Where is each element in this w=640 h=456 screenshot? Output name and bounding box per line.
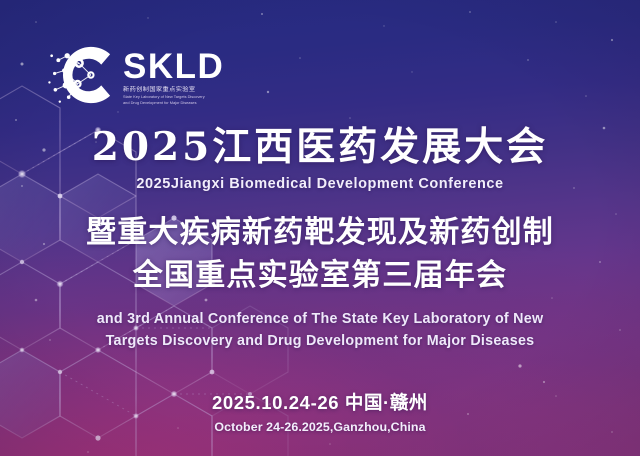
conference-poster: SKLD 新药创制国家重点实验室 State Key Laboratory of… bbox=[0, 0, 640, 456]
logo-english-name-line-1: State Key Laboratory of New Targets Disc… bbox=[123, 94, 224, 99]
poster-text-content: 2025江西医药发展大会 2025Jiangxi Biomedical Deve… bbox=[0, 124, 640, 434]
logo-chinese-name: 新药创制国家重点实验室 bbox=[123, 86, 224, 93]
subtitle-chinese-line-2: 全国重点实验室第三届年会 bbox=[0, 255, 640, 298]
subtitle-english-line-2: Targets Discovery and Drug Development f… bbox=[0, 331, 640, 353]
subtitle-english-line-1: and 3rd Annual Conference of The State K… bbox=[0, 309, 640, 331]
logo-english-name-line-2: and Drug Development for Major Diseases bbox=[123, 100, 224, 105]
page-title-english: 2025Jiangxi Biomedical Development Confe… bbox=[0, 176, 640, 192]
molecular-c-logo-icon bbox=[45, 38, 119, 112]
event-date-location-chinese: 2025.10.24-26 中国·赣州 bbox=[0, 389, 640, 415]
logo-wordmark-text: SKLD bbox=[123, 49, 224, 84]
event-date-location-english: October 24-26.2025,Ganzhou,China bbox=[0, 420, 640, 434]
subtitle-chinese-line-1: 暨重大疾病新药靶发现及新药创制 bbox=[0, 212, 640, 255]
logo-wordmark-block: SKLD 新药创制国家重点实验室 State Key Laboratory of… bbox=[123, 45, 224, 106]
page-title-chinese: 2025江西医药发展大会 bbox=[0, 124, 640, 170]
skld-logo: SKLD 新药创制国家重点实验室 State Key Laboratory of… bbox=[45, 37, 250, 113]
